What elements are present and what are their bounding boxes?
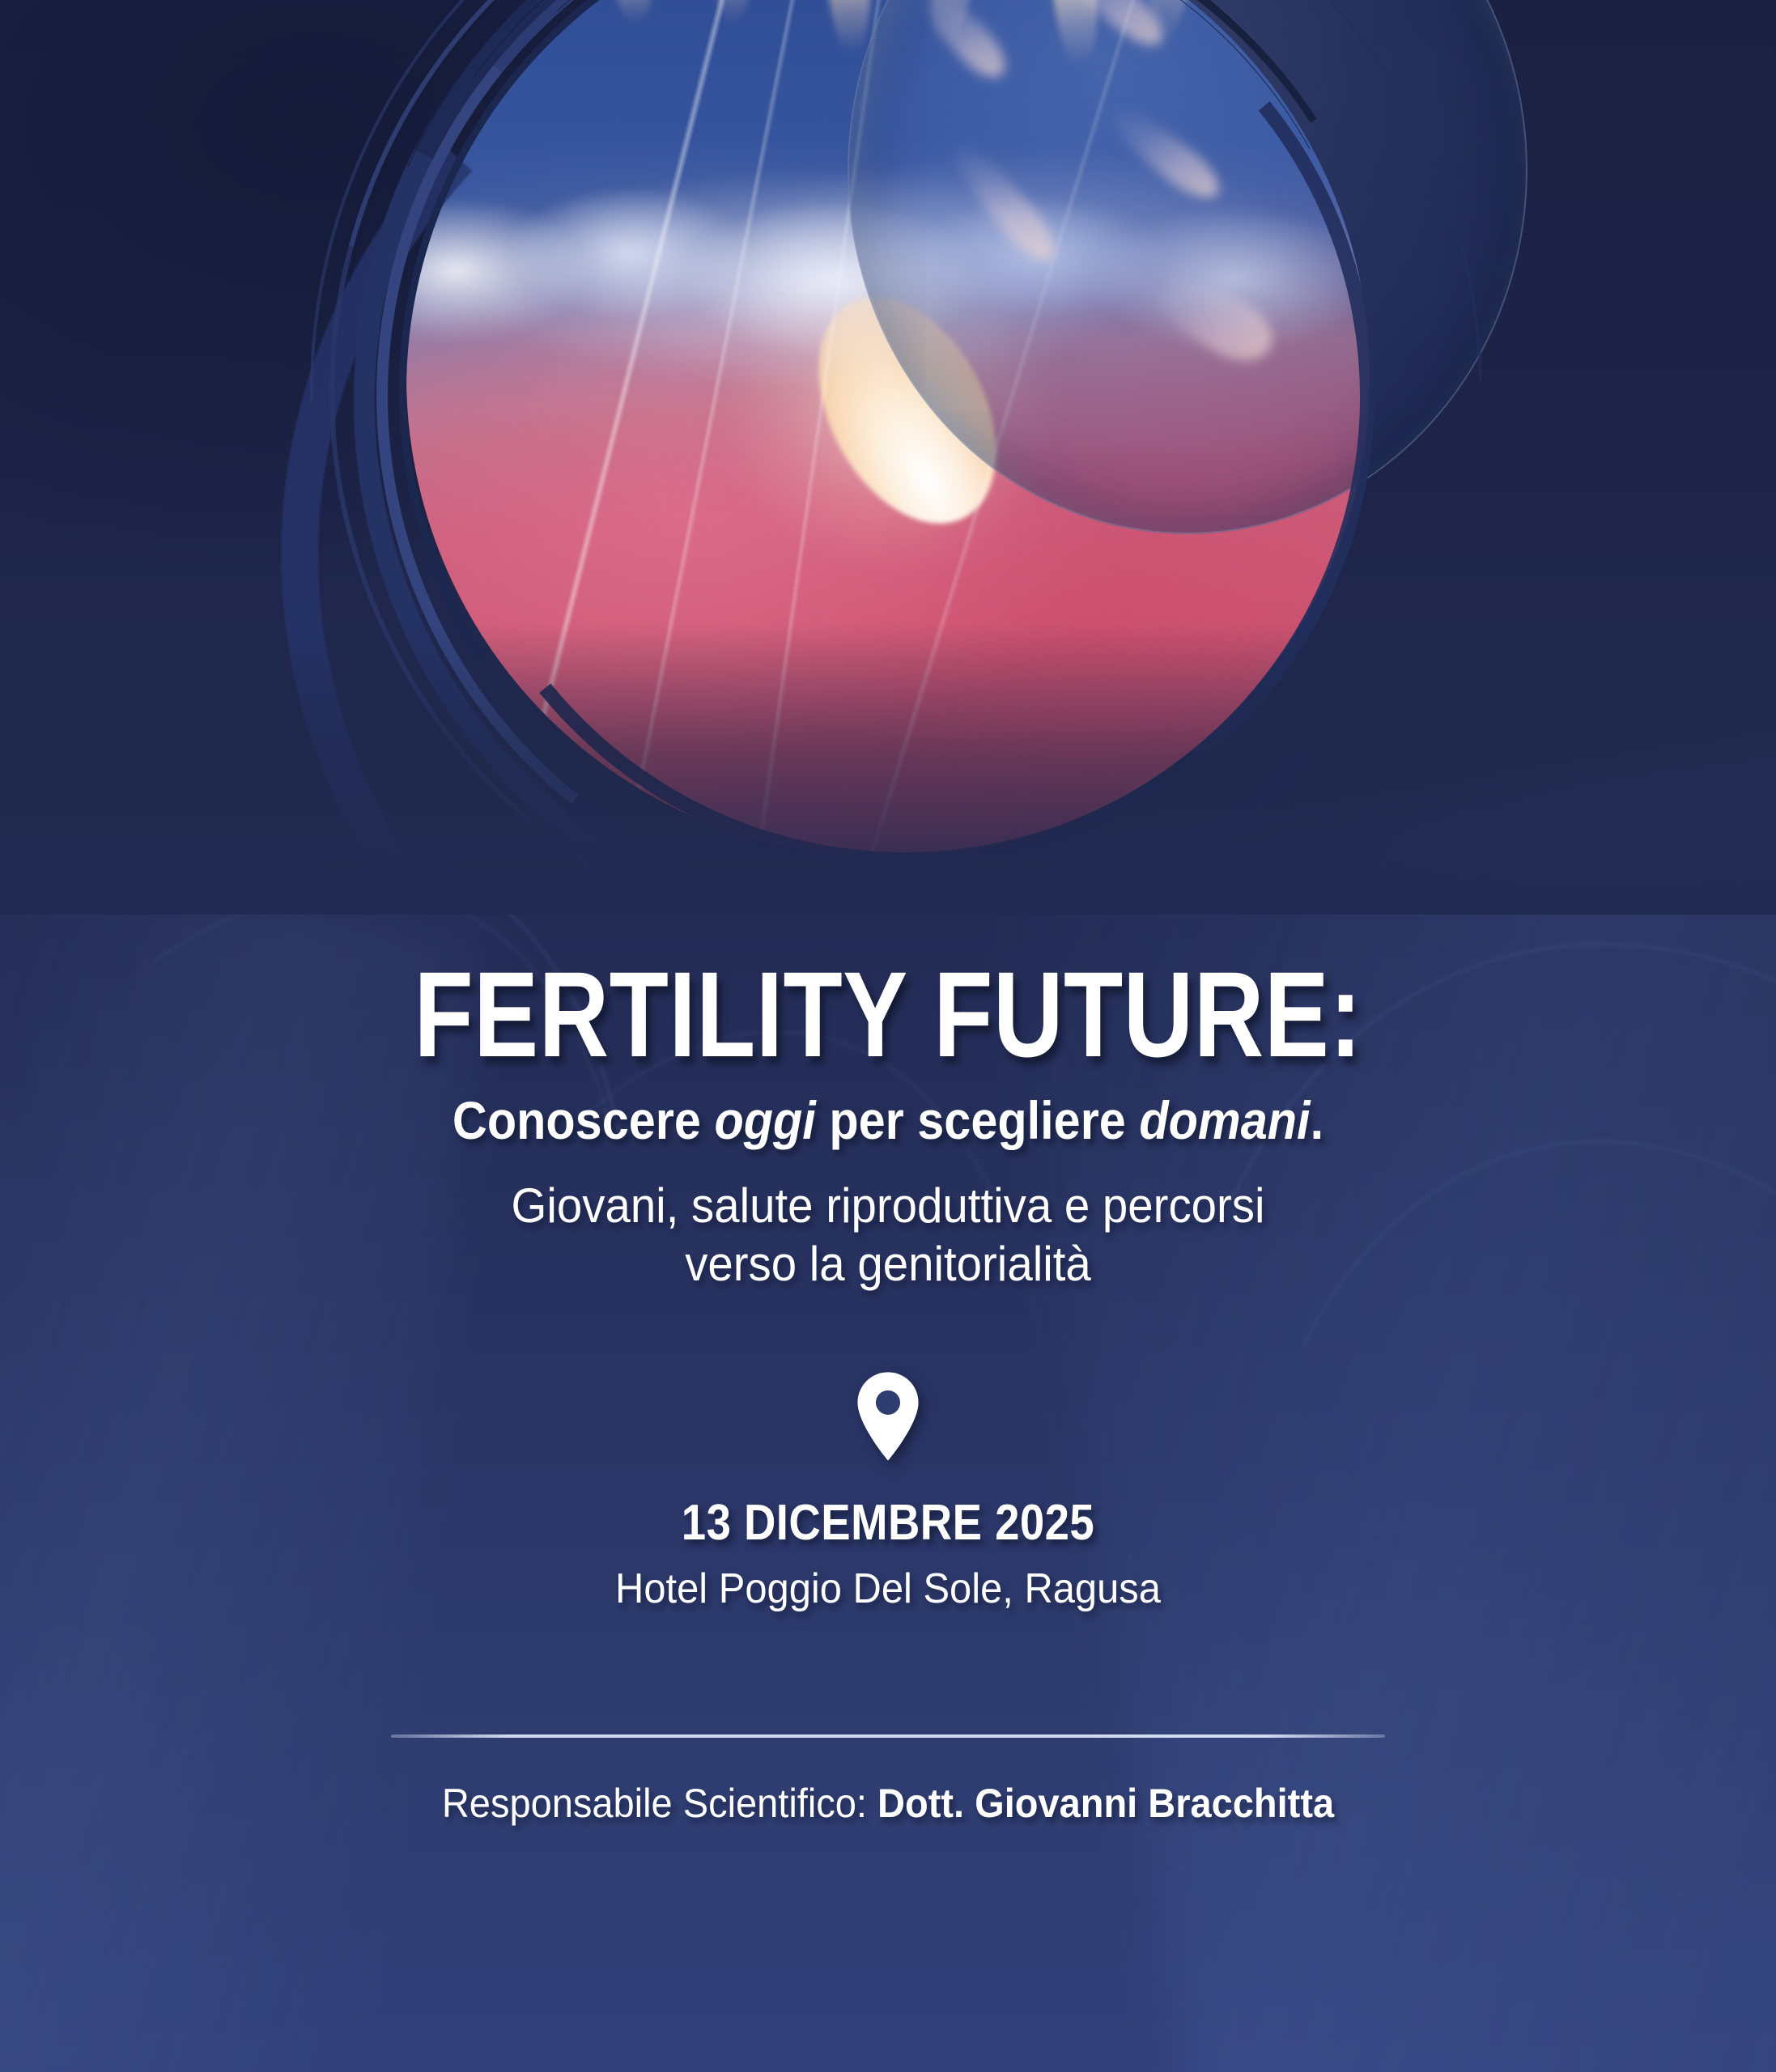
subtitle-part-3: .: [1311, 1090, 1324, 1150]
poster-tagline: Giovani, salute riproduttiva e percorsi …: [317, 1177, 1459, 1293]
tagline-line-1: Giovani, salute riproduttiva e percorsi: [317, 1177, 1459, 1235]
tagline-line-2: verso la genitorialità: [317, 1235, 1459, 1293]
subtitle-emphasis-2: domani: [1139, 1090, 1310, 1150]
event-date: 13 DICEMBRE 2025: [107, 1494, 1670, 1552]
scientific-director-credit: Responsabile Scientifico: Dott. Giovanni…: [53, 1780, 1723, 1827]
subtitle-part-2: per scegliere: [816, 1090, 1140, 1150]
hero-fade: [0, 623, 1776, 915]
credit-label: Responsabile Scientifico:: [442, 1781, 877, 1826]
hero-artwork: [0, 0, 1776, 915]
location-pin-wrapper: [0, 1371, 1776, 1462]
poster-subtitle: Conoscere oggi per scegliere domani.: [89, 1092, 1688, 1149]
poster: FERTILITY FUTURE: Conoscere oggi per sce…: [0, 0, 1776, 2072]
event-venue: Hotel Poggio Del Sole, Ragusa: [53, 1565, 1723, 1613]
subtitle-part-1: Conoscere: [452, 1090, 715, 1150]
subtitle-emphasis-1: oggi: [714, 1090, 815, 1150]
poster-content: FERTILITY FUTURE: Conoscere oggi per sce…: [0, 955, 1776, 1827]
credit-name: Dott. Giovanni Bracchitta: [877, 1781, 1334, 1826]
page-title: FERTILITY FUTURE:: [177, 955, 1598, 1074]
map-pin-icon: [855, 1371, 921, 1462]
divider: [391, 1734, 1385, 1738]
